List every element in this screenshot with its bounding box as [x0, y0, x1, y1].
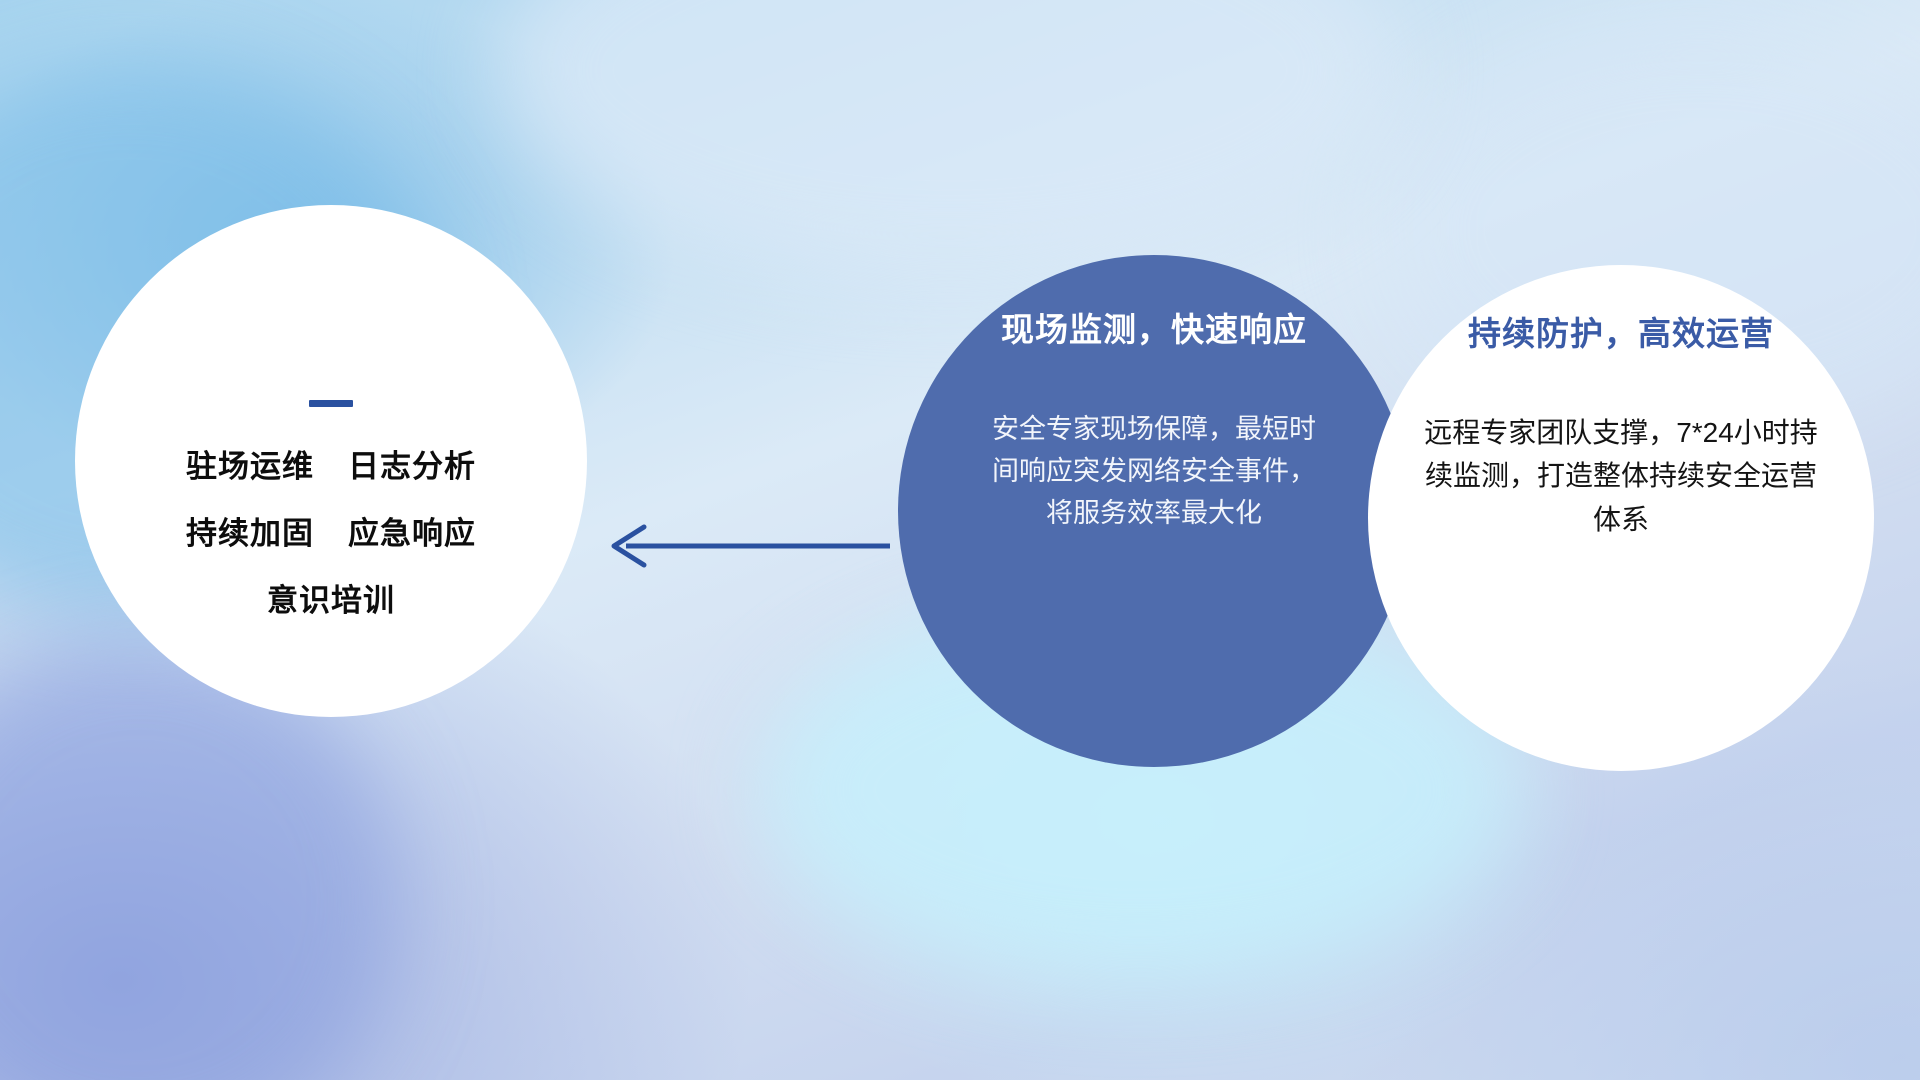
circle-body-text: 安全专家现场保障，最短时间响应突发网络安全事件，将服务效率最大化	[989, 409, 1319, 535]
capability-keyword: 应急响应	[348, 518, 476, 549]
capability-keyword: 驻场运维	[186, 451, 314, 482]
capability-keyword: 日志分析	[348, 451, 476, 482]
capability-keyword: 持续加固	[186, 518, 314, 549]
circle-title: 持续防护，高效运营	[1468, 307, 1774, 355]
divider-dash-icon	[309, 400, 353, 407]
capability-keyword-list: 驻场运维 日志分析 持续加固 应急响应 意识培训	[186, 451, 476, 652]
capability-circle-left[interactable]: 驻场运维 日志分析 持续加固 应急响应 意识培训	[75, 205, 587, 717]
circle-body-text: 远程专家团队支撑，7*24小时持续监测，打造整体持续安全运营体系	[1424, 411, 1818, 541]
background-glow-top-center	[500, 0, 1400, 280]
capability-row: 驻场运维 日志分析	[186, 451, 476, 482]
circle-title: 现场监测，快速响应	[1001, 303, 1307, 351]
slide-canvas: 驻场运维 日志分析 持续加固 应急响应 意识培训 现场监测，快速响应 安全专家现…	[0, 0, 1920, 1080]
capability-circle-right[interactable]: 持续防护，高效运营 远程专家团队支撑，7*24小时持续监测，打造整体持续安全运营…	[1368, 265, 1874, 771]
capability-circle-middle[interactable]: 现场监测，快速响应 安全专家现场保障，最短时间响应突发网络安全事件，将服务效率最…	[898, 255, 1410, 767]
left-arrow-icon	[600, 515, 890, 575]
capability-row: 持续加固 应急响应	[186, 518, 476, 549]
capability-row: 意识培训	[186, 585, 476, 616]
capability-keyword: 意识培训	[267, 585, 395, 616]
